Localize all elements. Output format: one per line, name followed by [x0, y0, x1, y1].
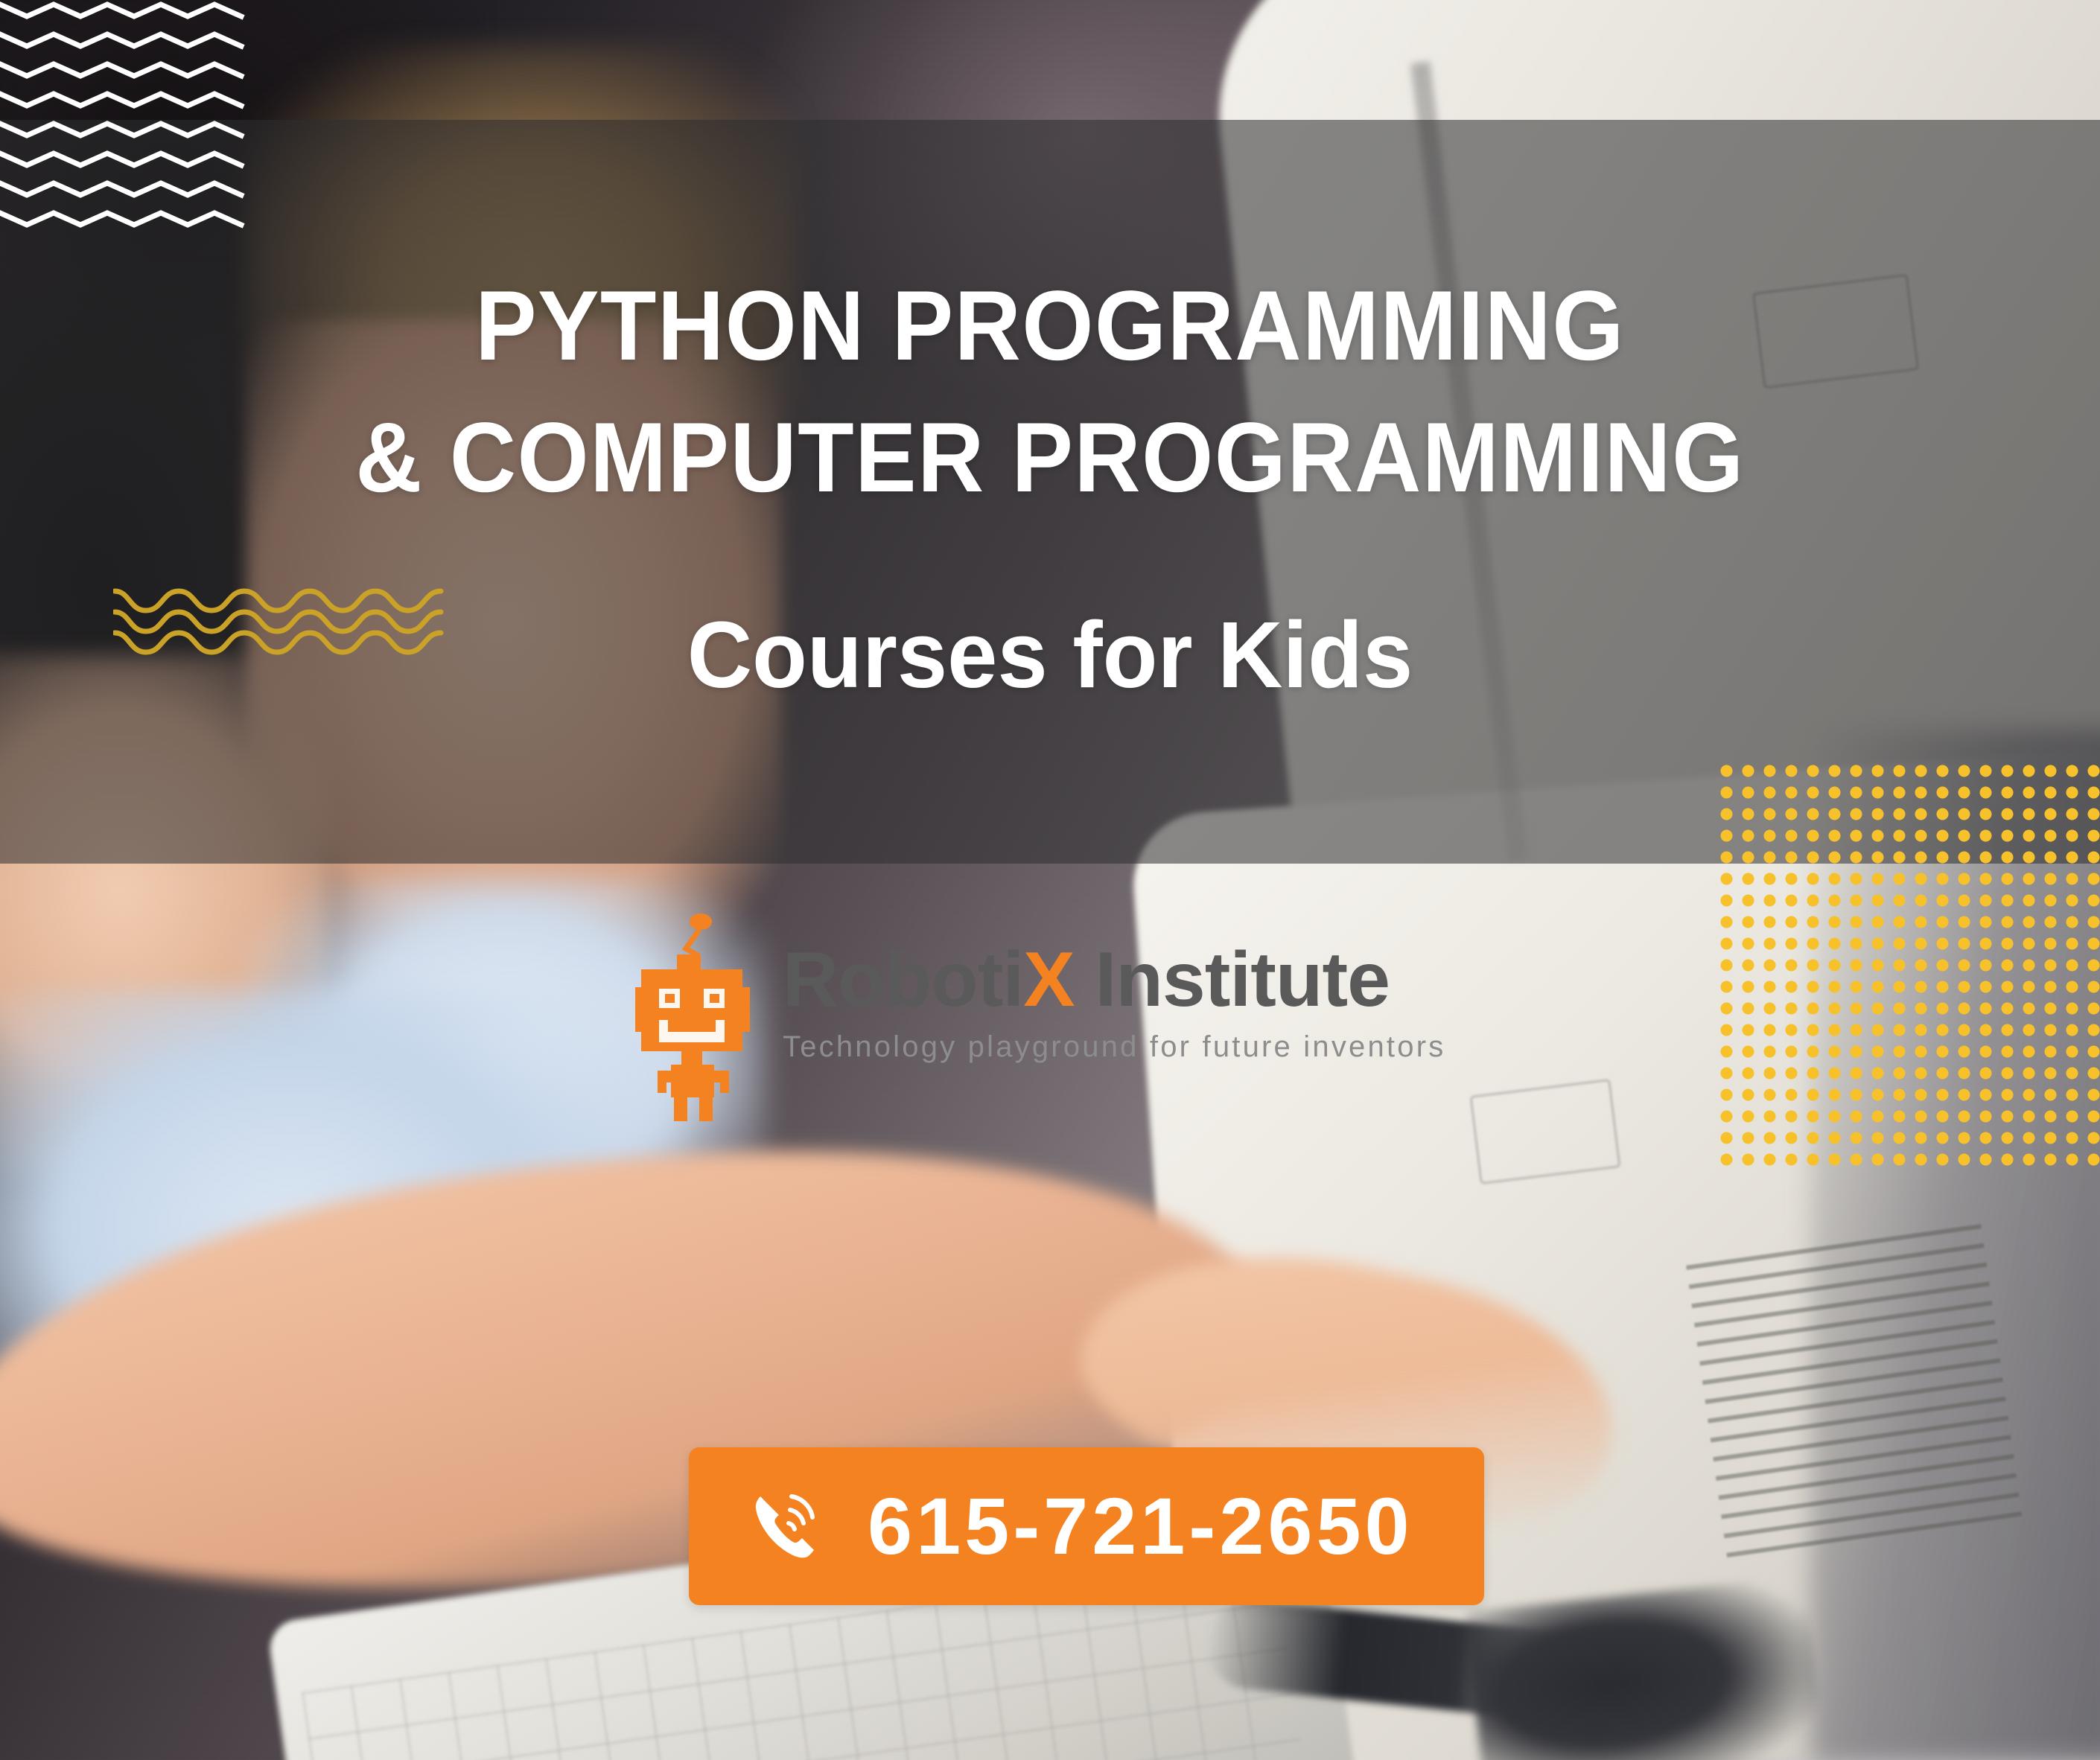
phone-ringing-icon — [745, 1486, 826, 1566]
headline-line-1: PYTHON PROGRAMMING — [74, 261, 2027, 392]
logo-name-prefix: Roboti — [783, 937, 1023, 1023]
page-title: PYTHON PROGRAMMING & COMPUTER PROGRAMMIN… — [0, 261, 2100, 524]
call-phone-button[interactable]: 615-721-2650 — [689, 1447, 1484, 1605]
logo-wordmark: RobotiX Institute — [783, 941, 1445, 1018]
logo-name-suffix: Institute — [1075, 937, 1390, 1023]
subheadline: Courses for Kids — [42, 608, 2058, 702]
logo-tagline: Technology playground for future invento… — [783, 1032, 1445, 1062]
robot-icon — [635, 910, 754, 1126]
logo-text-block: RobotiX Institute Technology playground … — [783, 910, 1445, 1062]
brand-logo: RobotiX Institute Technology playground … — [635, 910, 1521, 1126]
poster-canvas: PYTHON PROGRAMMING & COMPUTER PROGRAMMIN… — [0, 0, 2100, 1760]
logo-name-accent: X — [1023, 937, 1074, 1023]
dot-grid-icon — [1711, 756, 2100, 1173]
zigzag-lines-icon — [0, 0, 247, 246]
headline-line-2: & COMPUTER PROGRAMMING — [74, 392, 2027, 524]
phone-number: 615-721-2650 — [868, 1486, 1413, 1566]
